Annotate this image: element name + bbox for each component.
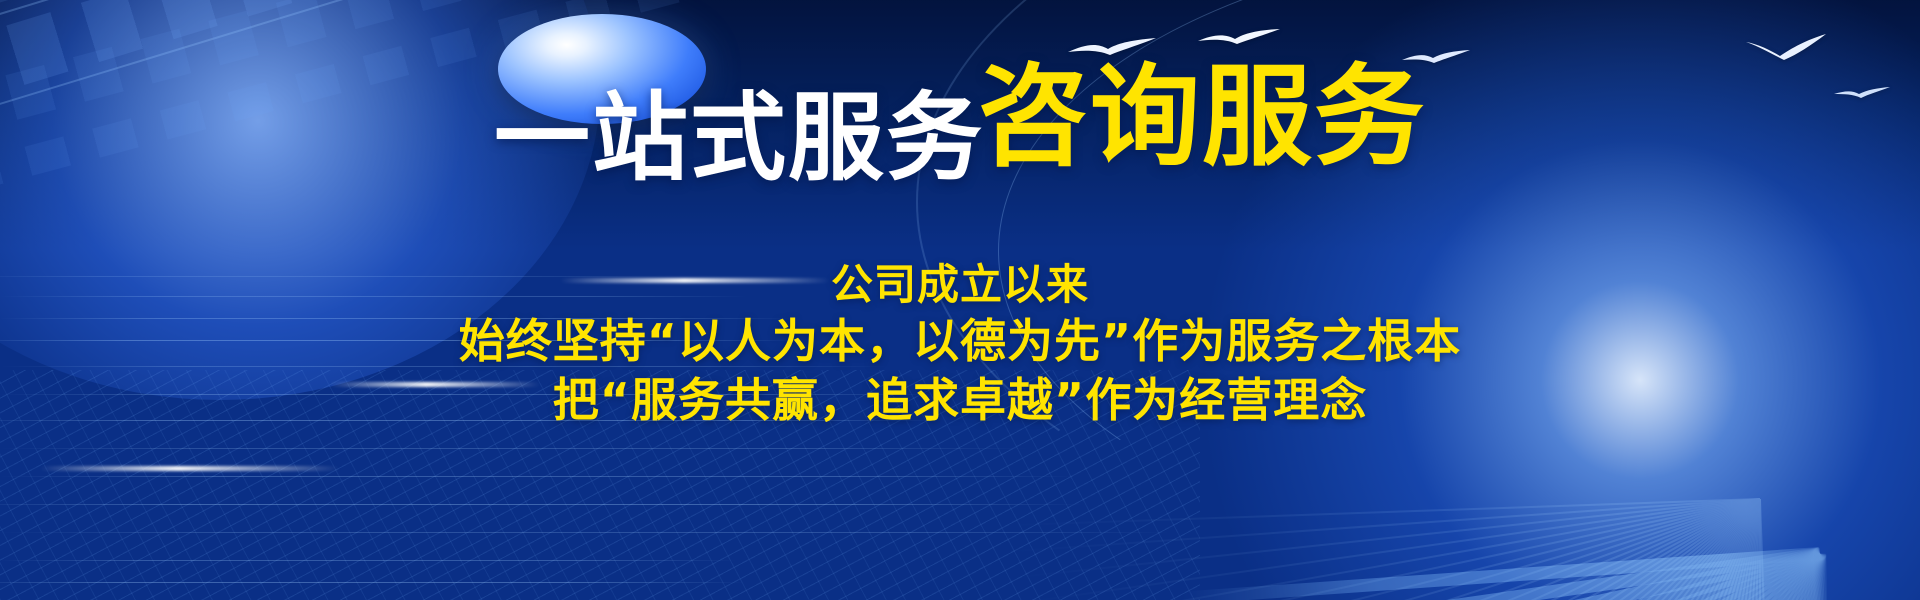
sunburst-ray <box>1814 553 1828 600</box>
promotional-banner: 一站式服务咨询服务 公司成立以来 始终坚持“以人为本，以德为先”作为服务之根本 … <box>0 0 1920 600</box>
light-streak-highlight <box>40 466 340 471</box>
light-streak-line <box>0 560 737 561</box>
light-streak-line <box>0 504 1083 505</box>
subtitle-block: 公司成立以来 始终坚持“以人为本，以德为先”作为服务之根本 把“服务共赢，追求卓… <box>0 258 1920 430</box>
light-streak-line <box>0 448 1029 449</box>
subtitle-line-2: 始终坚持“以人为本，以德为先”作为服务之根本 <box>0 312 1920 371</box>
subtitle-line-1: 公司成立以来 <box>0 258 1920 312</box>
headline-white-text: 一站式服务 <box>494 82 984 194</box>
headline: 一站式服务咨询服务 <box>0 78 1920 188</box>
light-streak-line <box>0 476 1076 477</box>
light-streak-line <box>0 532 1170 533</box>
light-streak-line <box>0 582 744 583</box>
headline-yellow-text: 咨询服务 <box>978 53 1426 181</box>
subtitle-line-3: 把“服务共赢，追求卓越”作为经营理念 <box>0 371 1920 430</box>
seagull-icon <box>1744 32 1828 62</box>
seagull-icon <box>1196 27 1282 51</box>
